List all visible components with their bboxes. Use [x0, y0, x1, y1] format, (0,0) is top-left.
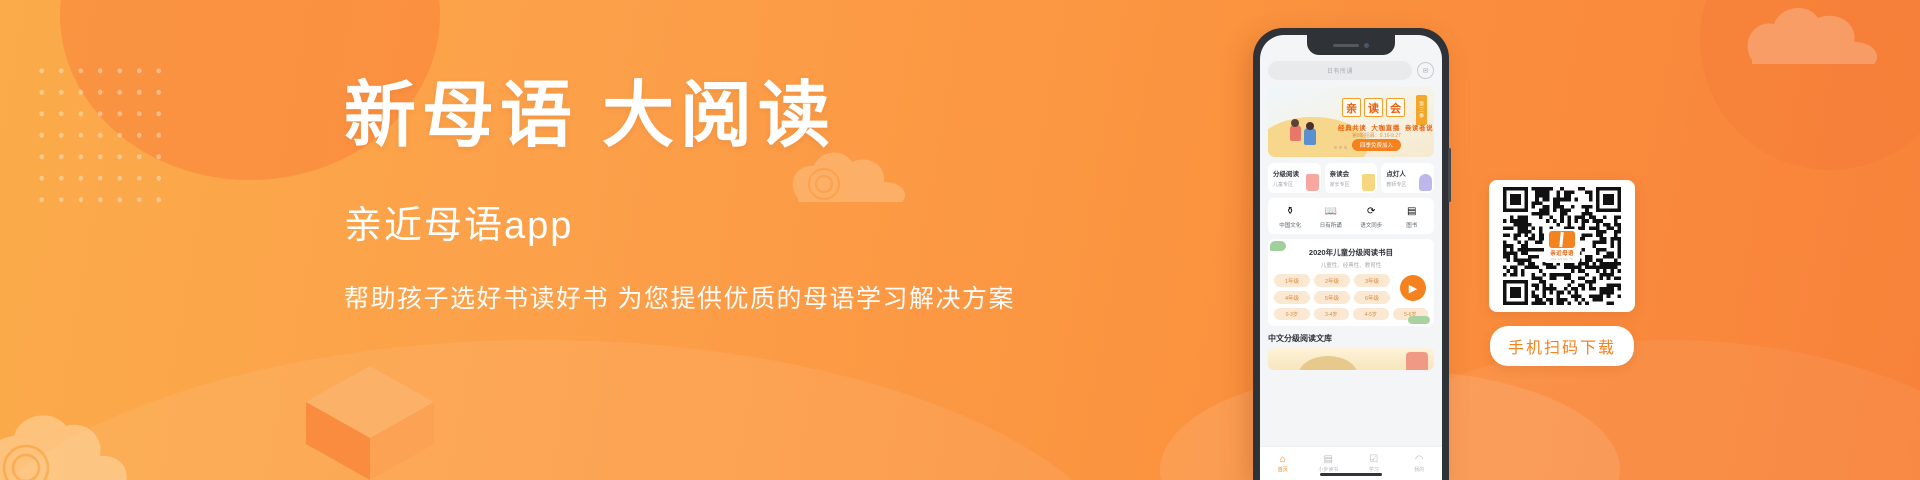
list-icon: ▤: [1405, 204, 1419, 218]
book-list-card[interactable]: 2020年儿童分级阅读书目 儿童性、经典性、教育性 1年级 2年级 3年级 4年…: [1268, 239, 1434, 326]
home-icon: ⌂: [1260, 454, 1306, 465]
hero-title-char: 亲: [1342, 98, 1361, 117]
hero-child-left: [1290, 125, 1301, 141]
quick-icon-daily-recitation[interactable]: 📖 日有所诵: [1311, 204, 1352, 229]
hero-title: 亲 读 会: [1342, 98, 1405, 117]
grade-tag[interactable]: 5年级: [1314, 291, 1350, 304]
hero-subtitle-item: 亲读者说: [1405, 122, 1433, 132]
hero-subtitle-item: 大咖直播: [1371, 122, 1399, 132]
brand-mark-icon: [1549, 231, 1575, 248]
copy-block: 新母语 大阅读 亲近母语app 帮助孩子选好书读好书 为您提供优质的母语学习解决…: [344, 78, 1044, 315]
leaf-decoration-icon: [1270, 241, 1286, 251]
hero-carousel-dots[interactable]: [1334, 146, 1347, 149]
play-video-icon[interactable]: ▶: [1400, 275, 1426, 301]
quick-icon-books[interactable]: ▤ 图书: [1392, 204, 1433, 229]
message-icon[interactable]: ✉: [1417, 62, 1434, 79]
age-tag[interactable]: 3-4岁: [1314, 308, 1350, 320]
grade-tag[interactable]: 2年级: [1314, 274, 1350, 287]
qr-center-logo: 亲近母语 QIN JIN MU YU: [1544, 229, 1580, 263]
app-hero-banner[interactable]: 亲 读 会 第三季 经典共读 大咖直播 亲读者说 第8期招募：9.16-9.27…: [1268, 87, 1434, 157]
category-row: 分级阅读 儿童专区 亲读会 家长专区 点灯人 教师专区: [1268, 163, 1434, 193]
qr-block: 亲近母语 QIN JIN MU YU 手机扫码下载: [1489, 180, 1635, 366]
quick-icon-label: 日有所诵: [1311, 221, 1352, 229]
age-tag-row: 0-3岁 3-4岁 4-5岁 5-6岁: [1274, 308, 1428, 320]
grade-tag[interactable]: 1年级: [1274, 274, 1310, 287]
qr-logo-cn: 亲近母语: [1550, 249, 1574, 257]
qr-logo-en: QIN JIN MU YU: [1551, 258, 1573, 261]
hero-subtitle-row: 经典共读 大咖直播 亲读者说: [1338, 122, 1433, 132]
decorative-hill-left: [0, 340, 1140, 480]
tab-label: 小步读书: [1306, 466, 1352, 473]
quick-icon-label: 语文同步: [1351, 221, 1392, 229]
tab-label: 学习: [1351, 466, 1397, 473]
book-card-subtitle: 儿童性、经典性、教育性: [1274, 261, 1428, 269]
person-icon: [1419, 174, 1432, 191]
hero-subtitle-item: 经典共读: [1338, 122, 1366, 132]
quick-icon-sync-course[interactable]: ⟳ 语文同步: [1351, 204, 1392, 229]
promo-banner: 新母语 大阅读 亲近母语app 帮助孩子选好书读好书 为您提供优质的母语学习解决…: [0, 0, 1920, 480]
bookmark-icon: [1306, 174, 1319, 191]
home-indicator: [1320, 473, 1382, 476]
refresh-icon: ⟳: [1364, 204, 1378, 218]
phone-notch: [1307, 35, 1395, 55]
download-button[interactable]: 手机扫码下载: [1490, 326, 1634, 366]
banner-headline: 新母语 大阅读: [344, 78, 1044, 156]
hero-date: 第8期招募：9.16-9.27: [1352, 132, 1401, 139]
camera-icon: [1364, 43, 1369, 48]
grade-tag[interactable]: 3年级: [1354, 274, 1390, 287]
quick-icon-label: 图书: [1392, 221, 1433, 229]
phone-mockup: 日有所诵 ✉ 亲 读 会 第三季 经典共读 大咖直播: [1253, 28, 1449, 480]
checklist-icon: ☑: [1351, 454, 1397, 465]
hero-join-button[interactable]: 四季免费加入: [1352, 139, 1401, 151]
tab-label: 首页: [1260, 466, 1306, 473]
decorative-circle-top-right: [1700, 0, 1920, 170]
hero-ribbon: 第三季: [1416, 95, 1427, 125]
speaker-icon: [1333, 44, 1359, 47]
category-card-graded-reading[interactable]: 分级阅读 儿童专区: [1268, 163, 1321, 193]
library-arc-decoration: [1298, 356, 1358, 370]
library-banner[interactable]: [1268, 348, 1434, 370]
phone-screen: 日有所诵 ✉ 亲 读 会 第三季 经典共读 大咖直播: [1260, 35, 1442, 480]
tab-profile[interactable]: ◠ 我的: [1397, 454, 1443, 473]
quick-icon-row: ⚱ 中国文化 📖 日有所诵 ⟳ 语文同步 ▤ 图书: [1268, 198, 1434, 234]
grade-tag[interactable]: 4年级: [1274, 291, 1310, 304]
cloud-motif-icon: [0, 376, 172, 480]
app-search-row: 日有所诵 ✉: [1268, 61, 1434, 80]
grade-tag[interactable]: 6年级: [1354, 291, 1390, 304]
category-card-parent-club[interactable]: 亲读会 家长专区: [1325, 163, 1378, 193]
book-list-icon: ▤: [1306, 454, 1352, 465]
tab-label: 我的: [1397, 466, 1443, 473]
decorative-cube: [300, 360, 440, 480]
book-icon: 📖: [1324, 204, 1338, 218]
leaf-decoration-icon: [1408, 316, 1430, 324]
age-tag[interactable]: 4-5岁: [1353, 308, 1389, 320]
category-card-teacher[interactable]: 点灯人 教师专区: [1381, 163, 1434, 193]
decorative-dot-grid: [32, 60, 172, 210]
banner-tagline: 帮助孩子选好书读好书 为您提供优质的母语学习解决方案: [344, 279, 1044, 315]
library-block-decoration: [1406, 352, 1428, 370]
tab-reading[interactable]: ▤ 小步读书: [1306, 454, 1352, 473]
book-card-title: 2020年儿童分级阅读书目: [1274, 247, 1428, 258]
hero-title-char: 会: [1386, 98, 1405, 117]
tab-home[interactable]: ⌂ 首页: [1260, 454, 1306, 473]
library-section-title: 中文分级阅读文库: [1268, 333, 1434, 344]
quick-icon-label: 中国文化: [1270, 221, 1311, 229]
app-search-input[interactable]: 日有所诵: [1268, 61, 1412, 80]
user-icon: ◠: [1397, 454, 1443, 465]
banner-subtitle: 亲近母语app: [344, 194, 1044, 249]
cloud-motif-right-icon: [1746, 0, 1886, 74]
age-tag[interactable]: 0-3岁: [1274, 308, 1310, 320]
tab-study[interactable]: ☑ 学习: [1351, 454, 1397, 473]
quick-icon-chinese-culture[interactable]: ⚱ 中国文化: [1270, 204, 1311, 229]
hero-title-char: 读: [1364, 98, 1383, 117]
grade-tag-grid: 1年级 2年级 3年级 4年级 5年级 6年级 ▶: [1274, 274, 1428, 304]
hero-child-right: [1304, 128, 1316, 145]
bookmark-icon: [1362, 174, 1375, 191]
qr-code-card: 亲近母语 QIN JIN MU YU: [1489, 180, 1635, 312]
vase-icon: ⚱: [1283, 204, 1297, 218]
